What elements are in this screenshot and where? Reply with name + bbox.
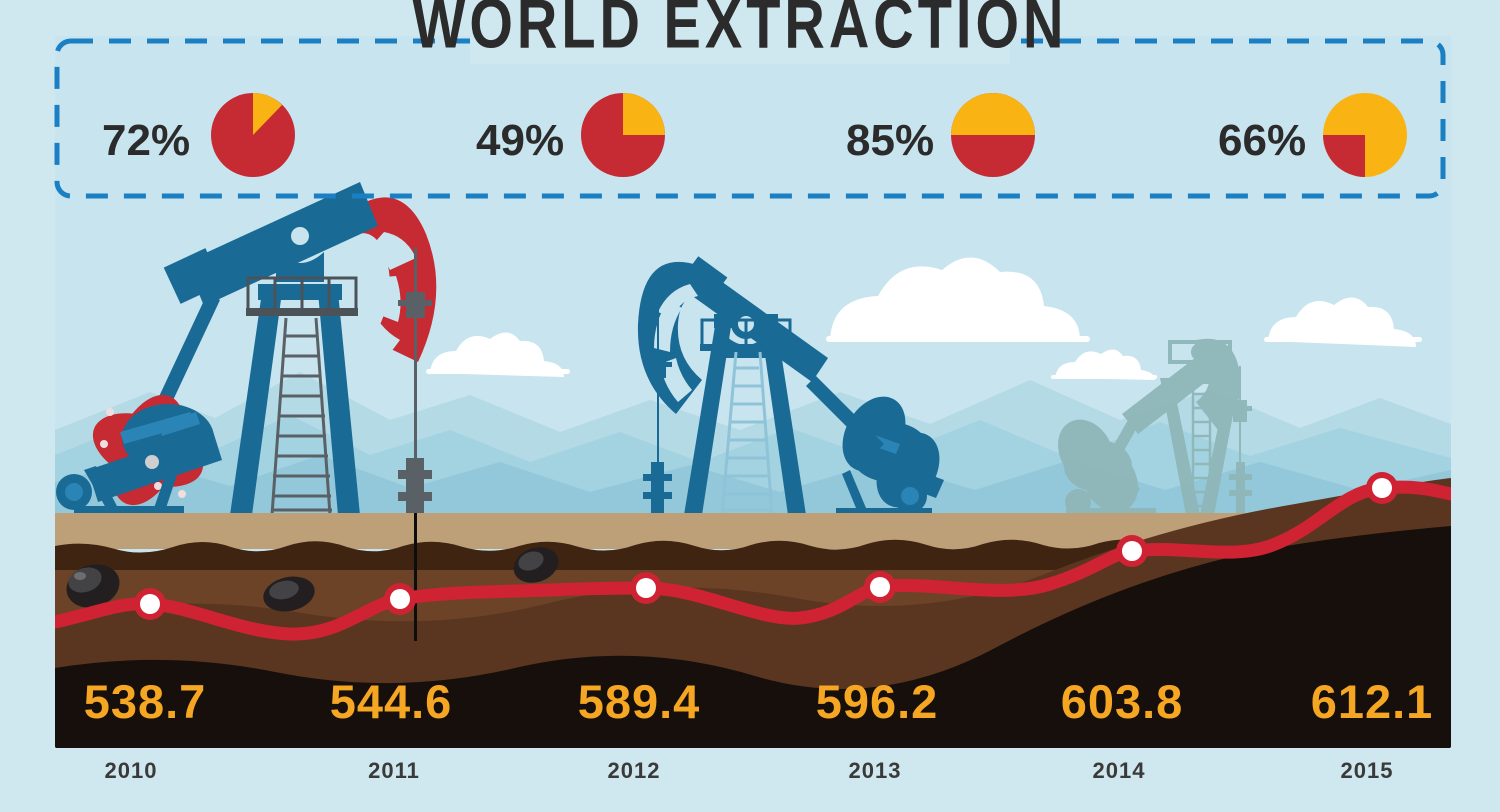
page-title: WORLD EXTRACTION	[413, 0, 1068, 63]
axis-label-2012: 2012	[608, 758, 661, 783]
pie-chart-1	[581, 93, 665, 177]
axis-label-2010: 2010	[105, 758, 158, 783]
value-label-2014: 603.8	[1061, 675, 1184, 728]
value-label-2011: 544.6	[330, 675, 453, 728]
value-label-2015: 612.1	[1311, 675, 1434, 728]
value-label-2010: 538.7	[84, 675, 207, 728]
pie-chart-2	[951, 93, 1035, 177]
pie-chart-3	[1323, 93, 1407, 177]
stat-label-2: 85%	[846, 116, 934, 165]
axis-label-2011: 2011	[368, 758, 420, 783]
axis-label-2014: 2014	[1093, 758, 1146, 783]
value-label-2013: 596.2	[816, 675, 939, 728]
stat-label-0: 72%	[102, 116, 190, 165]
infographic-root: 538.7 544.6 589.4 596.2 603.8 612.1 WORL…	[0, 0, 1500, 812]
value-label-2012: 589.4	[578, 675, 701, 728]
stat-label-3: 66%	[1218, 116, 1306, 165]
drill-pipe-underground	[414, 513, 417, 641]
stat-label-1: 49%	[476, 116, 564, 165]
axis-label-2013: 2013	[849, 758, 902, 783]
pie-chart-0	[211, 93, 295, 177]
axis-label-2015: 2015	[1341, 758, 1394, 783]
